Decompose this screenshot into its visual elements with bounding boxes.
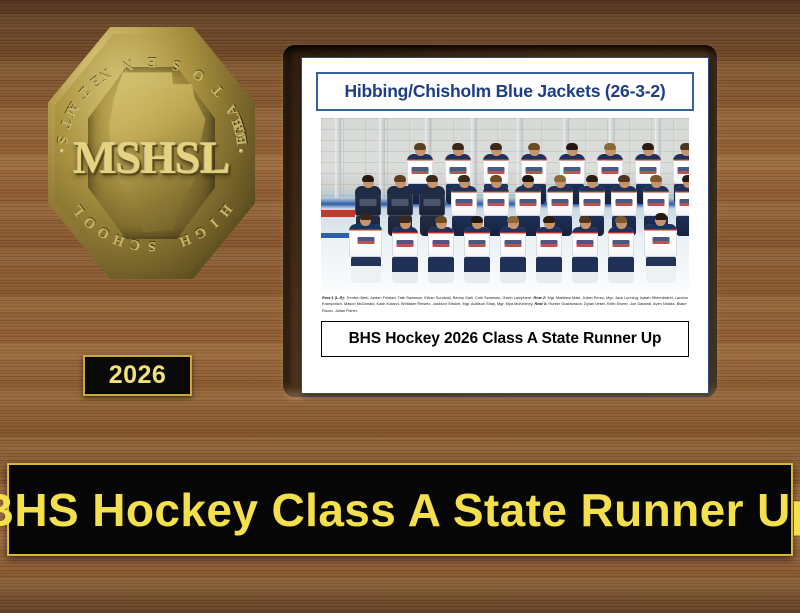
award-plaque: MINNESOTAHIGH SCHOOLSTATELEAGUE MSHSL 20… xyxy=(0,0,800,613)
person-hair xyxy=(490,143,502,150)
person-legs xyxy=(536,257,562,283)
person-hair xyxy=(394,175,406,182)
person-legs xyxy=(676,216,689,236)
person-jersey xyxy=(392,227,418,257)
person-legs xyxy=(392,257,418,283)
person-hair xyxy=(566,143,578,150)
person-jersey xyxy=(483,186,509,216)
person-jersey xyxy=(500,227,526,257)
team-photo xyxy=(321,118,689,292)
person-hair xyxy=(642,143,654,150)
person-head xyxy=(453,144,464,156)
person-head xyxy=(529,144,540,156)
photo-person xyxy=(572,217,598,283)
person-head xyxy=(651,176,662,188)
photo-person xyxy=(392,217,418,283)
person-jersey xyxy=(644,224,677,257)
person-hair xyxy=(650,175,662,182)
person-hair xyxy=(655,213,667,220)
person-hair xyxy=(682,175,689,182)
person-legs xyxy=(500,257,526,283)
person-jersey xyxy=(387,186,413,216)
photo-caption: Row 1 (L-R): Trenton Beel, Aeden Folstad… xyxy=(322,295,688,314)
person-legs xyxy=(646,257,676,283)
person-hair xyxy=(680,143,689,150)
card-bottom-caption-box: BHS Hockey 2026 Class A State Runner Up xyxy=(321,321,689,357)
person-jersey xyxy=(419,186,445,216)
person-hair xyxy=(458,175,470,182)
person-head xyxy=(491,176,502,188)
person-head xyxy=(681,144,690,156)
medallion-arc-letter: C xyxy=(128,235,141,253)
person-hair xyxy=(426,175,438,182)
person-legs xyxy=(572,257,598,283)
person-hair xyxy=(414,143,426,150)
person-head xyxy=(508,217,519,229)
person-head xyxy=(491,144,502,156)
person-head xyxy=(587,176,598,188)
team-photo-image xyxy=(321,118,689,292)
person-head xyxy=(472,217,483,229)
person-head xyxy=(415,144,426,156)
mshsl-medallion: MINNESOTAHIGH SCHOOLSTATELEAGUE MSHSL xyxy=(48,27,255,279)
person-jersey xyxy=(349,224,382,257)
person-head xyxy=(605,144,616,156)
person-head xyxy=(436,217,447,229)
person-head xyxy=(555,176,566,188)
engraved-banner: BHS Hockey Class A State Runner Up xyxy=(7,463,793,556)
team-title-text: Hibbing/Chisholm Blue Jackets (26-3-2) xyxy=(344,81,665,102)
person-hair xyxy=(435,216,447,223)
card-bottom-caption-text: BHS Hockey 2026 Class A State Runner Up xyxy=(349,330,662,348)
person-hair xyxy=(618,175,630,182)
person-hair xyxy=(471,216,483,223)
caption-row3-label: Row 3: xyxy=(534,301,547,306)
photo-person xyxy=(536,217,562,283)
person-head xyxy=(616,217,627,229)
person-jersey xyxy=(536,227,562,257)
caption-row2-label: Row 2: xyxy=(534,295,547,300)
person-jersey xyxy=(451,186,477,216)
medallion-arc-letter: S xyxy=(148,237,156,253)
person-legs xyxy=(351,257,381,283)
person-hair xyxy=(615,216,627,223)
person-hair xyxy=(554,175,566,182)
person-head xyxy=(360,214,371,226)
year-plate: 2026 xyxy=(83,355,192,396)
person-head xyxy=(395,176,406,188)
person-legs xyxy=(428,257,454,283)
medallion-arc-letter: E xyxy=(147,53,156,69)
person-jersey xyxy=(675,186,689,216)
photo-person xyxy=(464,217,490,283)
person-legs xyxy=(608,257,634,283)
person-head xyxy=(655,214,666,226)
rink-post xyxy=(335,118,341,198)
person-hair xyxy=(452,143,464,150)
person-jersey xyxy=(608,227,634,257)
person-hair xyxy=(579,216,591,223)
person-jersey xyxy=(428,227,454,257)
person-hair xyxy=(604,143,616,150)
person-head xyxy=(619,176,630,188)
photo-person xyxy=(349,214,382,283)
person-hair xyxy=(586,175,598,182)
person-hair xyxy=(543,216,555,223)
person-jersey xyxy=(515,186,541,216)
person-jersey xyxy=(464,227,490,257)
person-hair xyxy=(490,175,502,182)
person-hair xyxy=(399,216,411,223)
photo-card: Hibbing/Chisholm Blue Jackets (26-3-2) R… xyxy=(301,57,709,394)
photo-person xyxy=(500,217,526,283)
year-text: 2026 xyxy=(109,361,167,390)
photo-person xyxy=(644,214,677,283)
person-head xyxy=(523,176,534,188)
engraved-banner-text: BHS Hockey Class A State Runner Up xyxy=(0,483,800,537)
photo-person xyxy=(428,217,454,283)
medallion-stud xyxy=(239,149,243,153)
person-head xyxy=(363,176,374,188)
person-head xyxy=(580,217,591,229)
person-hair xyxy=(360,213,372,220)
medallion-center-text: MSHSL xyxy=(48,131,255,184)
person-head xyxy=(427,176,438,188)
person-legs xyxy=(464,257,490,283)
team-title-box: Hibbing/Chisholm Blue Jackets (26-3-2) xyxy=(316,72,694,111)
person-jersey xyxy=(611,186,637,216)
person-jersey xyxy=(547,186,573,216)
photo-person xyxy=(608,217,634,283)
person-jersey xyxy=(643,186,669,216)
person-hair xyxy=(528,143,540,150)
person-hair xyxy=(362,175,374,182)
person-head xyxy=(567,144,578,156)
person-head xyxy=(400,217,411,229)
person-jersey xyxy=(579,186,605,216)
person-hair xyxy=(522,175,534,182)
person-head xyxy=(683,176,690,188)
person-hair xyxy=(507,216,519,223)
caption-row1-label: Row 1 (L-R): xyxy=(322,295,345,300)
person-jersey xyxy=(355,186,381,216)
person-head xyxy=(643,144,654,156)
person-head xyxy=(544,217,555,229)
person-jersey xyxy=(572,227,598,257)
medallion-stud xyxy=(60,149,64,153)
person-head xyxy=(459,176,470,188)
caption-row1-names: Trenton Beel, Aeden Folstad, Tate Swanso… xyxy=(346,295,532,300)
